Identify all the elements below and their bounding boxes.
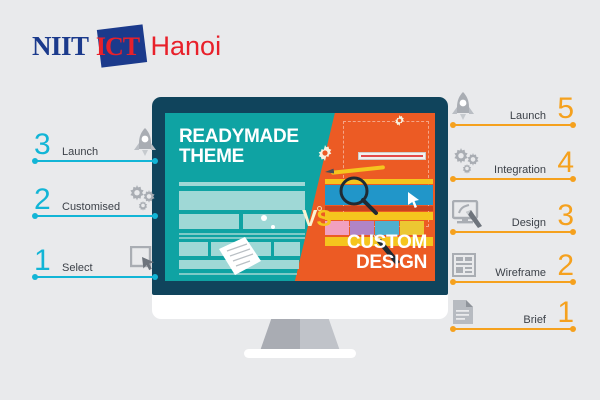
step-bar xyxy=(452,328,574,330)
step-number: 3 xyxy=(557,201,574,231)
logo-text-hanoi: Hanoi xyxy=(151,33,222,60)
step-number: 1 xyxy=(557,298,574,328)
step-right-integration[interactable]: 4 Integration xyxy=(452,140,574,180)
monitor-base xyxy=(244,349,356,358)
bubble-dot-2 xyxy=(271,225,275,229)
magnifier-icon xyxy=(337,174,379,216)
step-bar xyxy=(452,231,574,233)
step-left-customised[interactable]: 2 Customised xyxy=(34,177,156,217)
step-dot-end xyxy=(152,158,158,164)
step-number: 2 xyxy=(34,185,51,215)
monitor-illustration: READYMADE THEME VS xyxy=(152,97,448,319)
monitor-pencil-icon xyxy=(452,200,482,228)
vs-letter-v: V xyxy=(302,205,316,231)
readymade-line1: READYMADE xyxy=(179,127,319,147)
step-number: 1 xyxy=(34,246,51,276)
step-label: Select xyxy=(62,262,93,274)
step-right-launch[interactable]: 5 Launch xyxy=(452,86,574,126)
step-right-design[interactable]: 3 Design xyxy=(452,193,574,233)
step-dot-end xyxy=(570,122,576,128)
step-dot-start xyxy=(450,122,456,128)
step-dot-end xyxy=(152,274,158,280)
step-dot-end xyxy=(152,213,158,219)
rocket-icon xyxy=(134,128,156,158)
step-dot-end xyxy=(570,176,576,182)
step-left-launch[interactable]: 3 Launch xyxy=(34,122,156,162)
step-dot-start xyxy=(32,213,38,219)
step-dot-start xyxy=(450,279,456,285)
step-label: Design xyxy=(512,217,546,229)
monitor-stand xyxy=(260,319,340,351)
bubble-dot-1 xyxy=(261,215,267,221)
cursor-arrow-icon xyxy=(408,192,421,208)
step-number: 5 xyxy=(557,94,574,124)
gears-icon xyxy=(452,148,480,174)
step-bar xyxy=(34,276,156,278)
logo-text-niit: NIIT xyxy=(32,33,89,60)
step-number: 4 xyxy=(557,148,574,178)
step-label: Wireframe xyxy=(495,267,546,279)
vs-divider-label: VS xyxy=(302,205,331,232)
step-bar xyxy=(452,178,574,180)
step-dot-start xyxy=(450,229,456,235)
step-dot-start xyxy=(32,274,38,280)
step-left-select[interactable]: 1 Select xyxy=(34,238,156,278)
logo-ict-badge: ICT xyxy=(93,26,147,66)
monitor-screen: READYMADE THEME VS xyxy=(165,113,435,281)
step-number: 2 xyxy=(557,251,574,281)
step-bar xyxy=(34,215,156,217)
custom-line1: CUSTOM xyxy=(277,233,427,253)
brand-logo: NIIT ICT Hanoi xyxy=(32,26,221,66)
readymade-theme-title: READYMADE THEME xyxy=(179,127,319,167)
step-bar xyxy=(452,281,574,283)
step-dot-end xyxy=(570,326,576,332)
cursor-click-icon xyxy=(130,246,156,272)
step-label: Launch xyxy=(62,146,98,158)
step-label: Customised xyxy=(62,201,120,213)
step-bar xyxy=(34,160,156,162)
gears-icon xyxy=(128,185,156,211)
step-label: Launch xyxy=(510,110,546,122)
step-right-wireframe[interactable]: 2 Wireframe xyxy=(452,243,574,283)
step-right-brief[interactable]: 1 Brief xyxy=(452,290,574,330)
document-icon xyxy=(452,299,474,325)
step-number: 3 xyxy=(34,130,51,160)
step-dot-start xyxy=(32,158,38,164)
custom-line2: DESIGN xyxy=(277,253,427,273)
paper-sheets-graphic xyxy=(217,235,263,277)
custom-design-title: CUSTOM DESIGN xyxy=(277,233,427,273)
step-bar xyxy=(452,124,574,126)
step-label: Brief xyxy=(523,314,546,326)
step-dot-start xyxy=(450,176,456,182)
step-dot-end xyxy=(570,279,576,285)
gear-decoration-icon xyxy=(317,145,333,161)
step-dot-start xyxy=(450,326,456,332)
readymade-line2: THEME xyxy=(179,147,319,167)
rocket-icon xyxy=(452,92,474,122)
logo-text-ict: ICT xyxy=(93,34,143,60)
vs-letter-s: S xyxy=(316,205,330,231)
step-label: Integration xyxy=(494,164,546,176)
wireframe-icon xyxy=(452,253,476,277)
step-dot-end xyxy=(570,229,576,235)
gear-decoration-small-icon xyxy=(394,115,405,126)
